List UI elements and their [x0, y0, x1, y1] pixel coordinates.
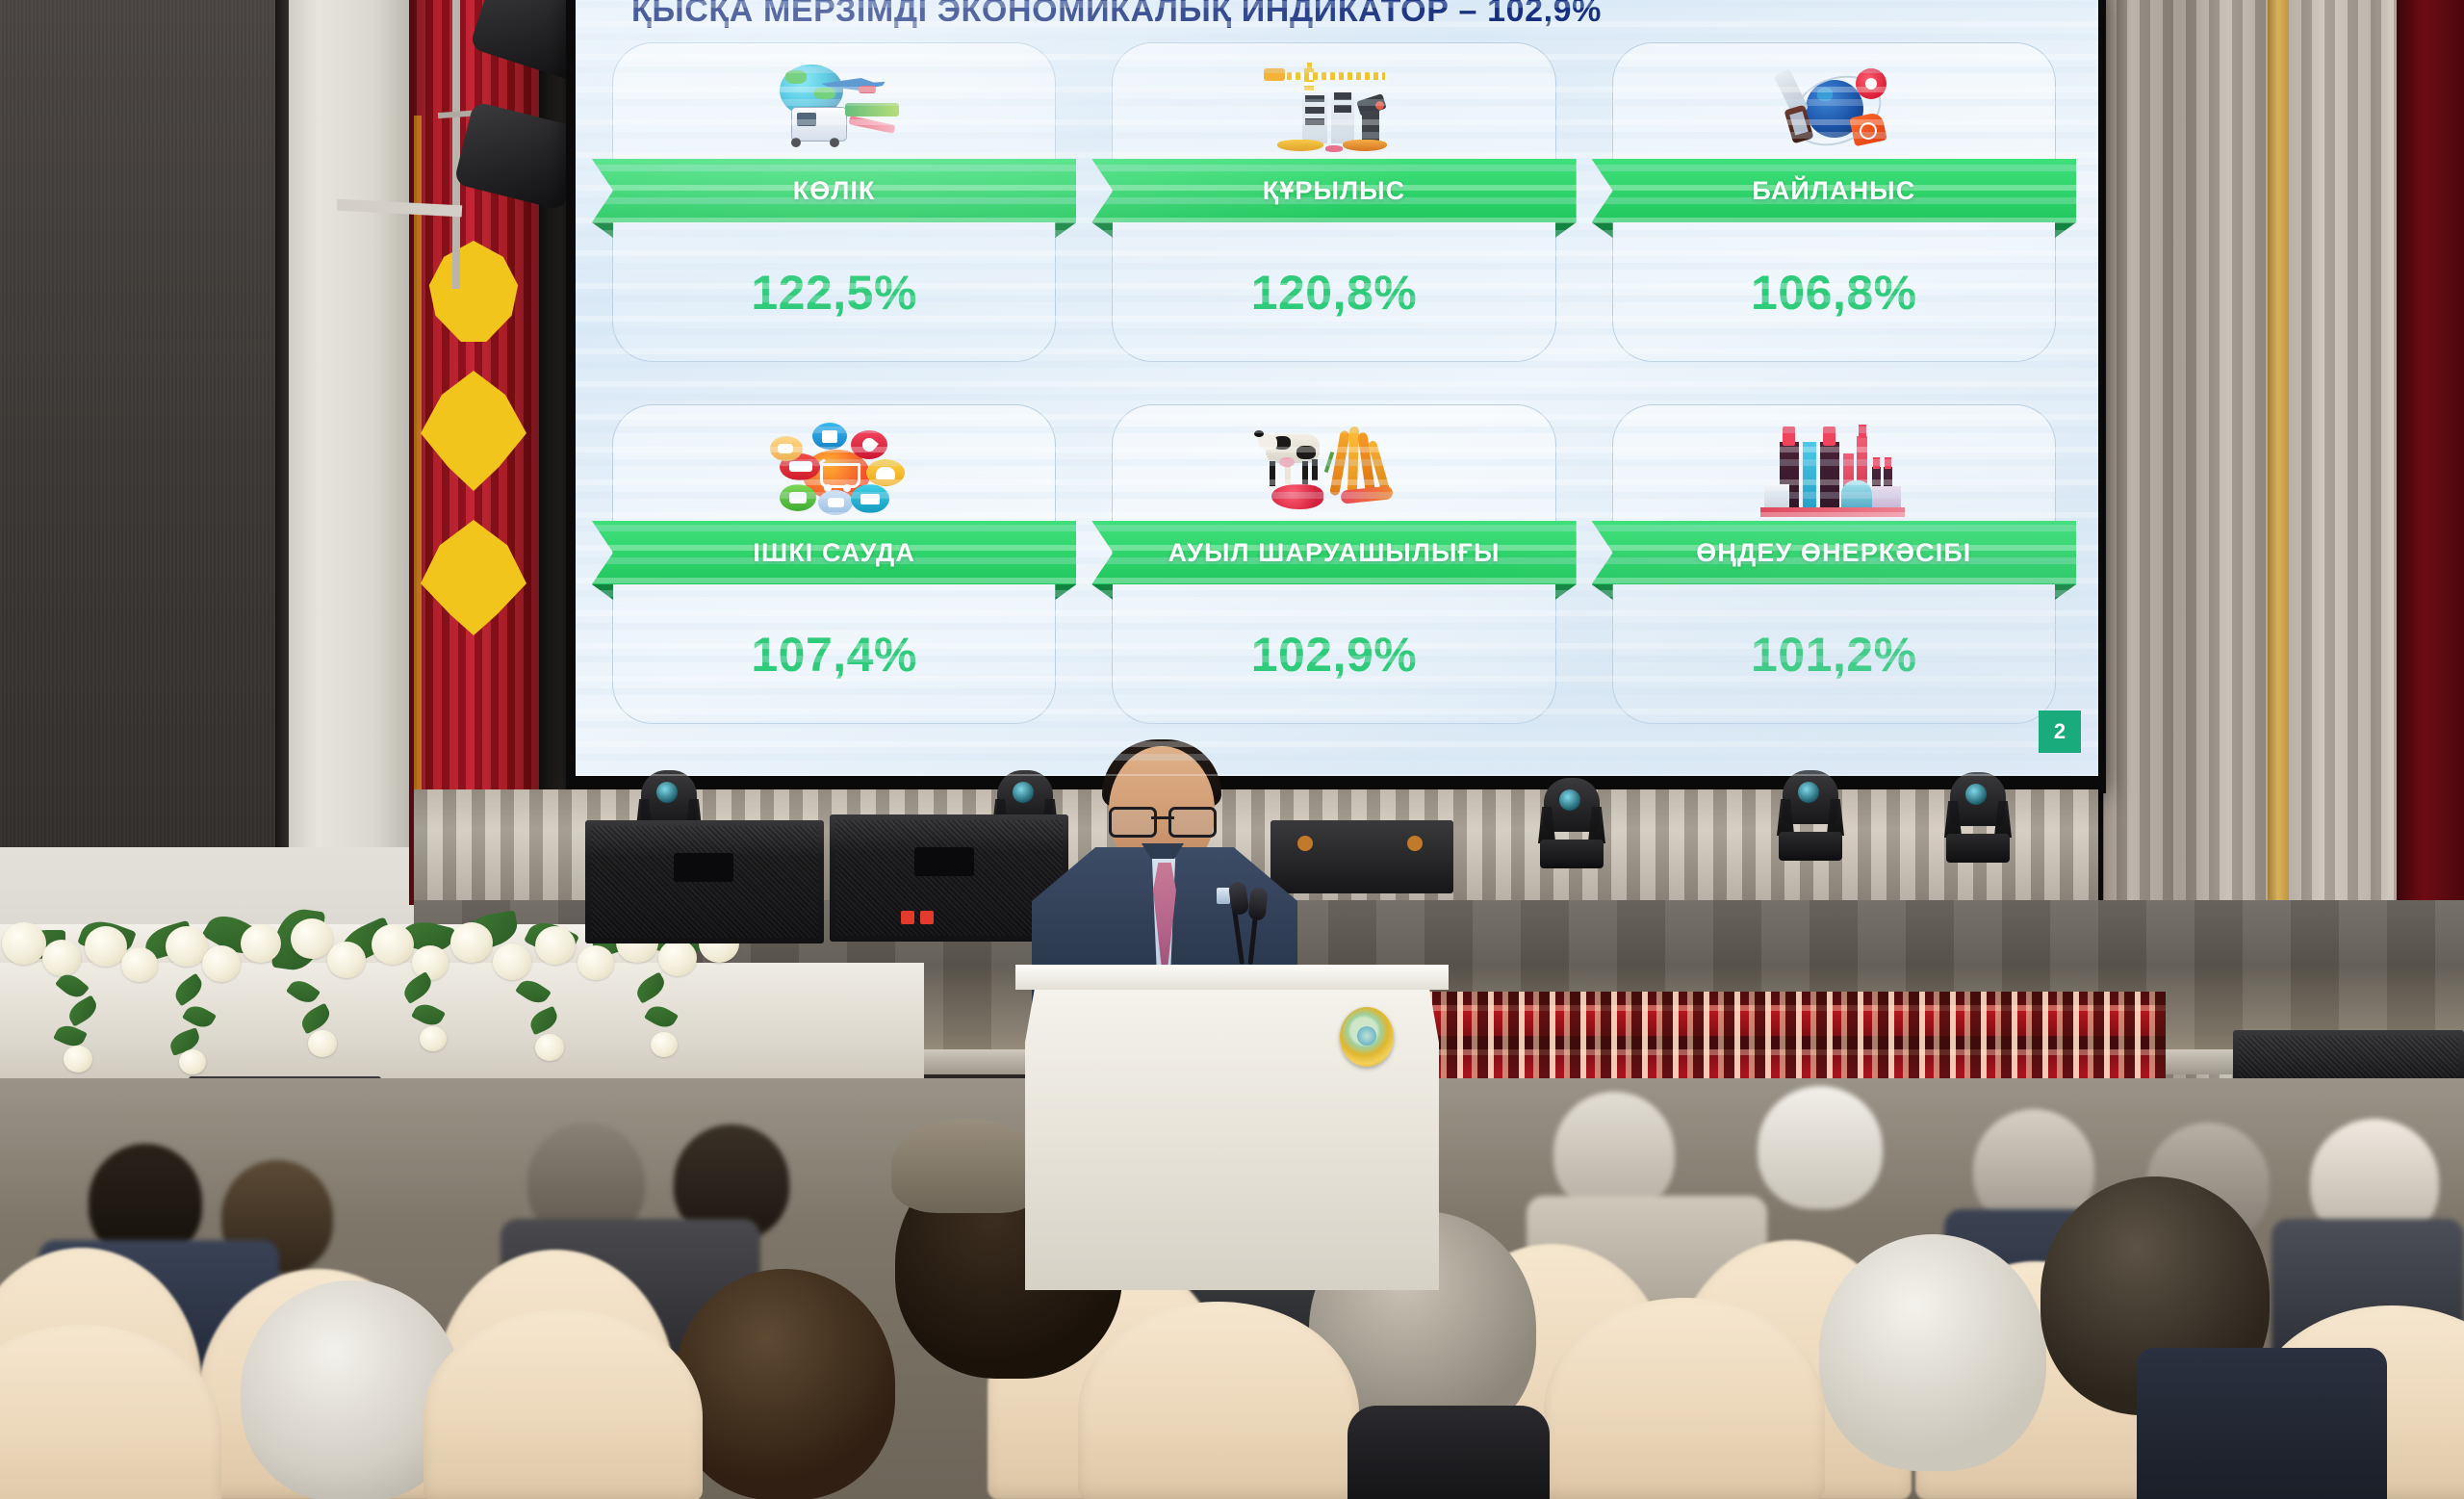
- card-value: 102,9%: [1113, 627, 1554, 683]
- slide-page-number: 2: [2039, 711, 2081, 753]
- amp-rack: [1270, 820, 1453, 893]
- amp-knob: [1297, 836, 1313, 851]
- slide-title: ҚЫСҚА МЕРЗІМДІ ЭКОНОМИКАЛЫҚ ИНДИКАТОР – …: [631, 0, 1602, 30]
- acoustic-wall-panel: [0, 0, 289, 847]
- speaker-connector: [920, 911, 934, 924]
- audience-head-hijab: [1819, 1234, 2046, 1471]
- ribbon-tail: [592, 222, 613, 238]
- ribbon-tail: [1091, 584, 1113, 600]
- curtain-ornament-strip: [414, 116, 422, 886]
- ribbon-tail: [2055, 222, 2076, 238]
- speaker-handle: [674, 853, 733, 882]
- card-label: ҚҰРЫЛЫС: [1263, 176, 1406, 206]
- indicator-card: БАЙЛАНЫС 106,8%: [1612, 42, 2056, 362]
- ribbon-tail: [1555, 222, 1577, 238]
- card-ribbon: КӨЛІК: [592, 159, 1076, 222]
- card-ribbon: ҚҰРЫЛЫС: [1091, 159, 1576, 222]
- construction-crane-icon: [1113, 57, 1554, 165]
- card-value: 101,2%: [1613, 627, 2055, 683]
- ribbon-tail: [1055, 584, 1076, 600]
- card-label: БАЙЛАНЫС: [1752, 176, 1915, 206]
- shopping-cart-icon: [613, 419, 1055, 527]
- moving-head-light: [1538, 778, 1605, 870]
- conference-hall-photo: ҚЫСҚА МЕРЗІМДІ ЭКОНОМИКАЛЫҚ ИНДИКАТОР – …: [0, 0, 2464, 1499]
- audience-head: [674, 1269, 895, 1499]
- communication-globe-icon: [1613, 57, 2055, 165]
- audience-shoulders: [1347, 1406, 1550, 1499]
- ribbon-tail: [1592, 584, 1613, 600]
- amp-knob: [1407, 836, 1423, 851]
- lighting-pole: [452, 0, 460, 289]
- card-value: 120,8%: [1113, 265, 1554, 321]
- card-ribbon: ӨҢДЕУ ӨНЕРКӘСІБІ: [1592, 521, 2076, 584]
- audience-head-hijab: [1758, 1086, 1883, 1209]
- card-value: 106,8%: [1613, 265, 2055, 321]
- indicator-card: ҚҰРЫЛЫС 120,8%: [1112, 42, 1555, 362]
- ribbon-tail: [1555, 584, 1577, 600]
- indicator-card: ІШКІ САУДА 107,4%: [612, 404, 1056, 724]
- led-presentation-screen: ҚЫСҚА МЕРЗІМДІ ЭКОНОМИКАЛЫҚ ИНДИКАТОР – …: [576, 0, 2098, 776]
- speaker-handle: [914, 847, 974, 876]
- card-ribbon: БАЙЛАНЫС: [1592, 159, 2076, 222]
- card-value: 107,4%: [613, 627, 1055, 683]
- moving-head-light: [1944, 772, 2012, 865]
- eyeglasses-icon: [1109, 807, 1217, 832]
- white-column: [289, 0, 409, 871]
- factory-icon: [1613, 419, 2055, 527]
- ribbon-tail: [1091, 222, 1113, 238]
- card-label: ІШКІ САУДА: [753, 538, 915, 568]
- card-ribbon: АУЫЛ ШАРУАШЫЛЫҒЫ: [1091, 521, 1576, 584]
- card-label: ӨҢДЕУ ӨНЕРКӘСІБІ: [1696, 538, 1971, 568]
- card-ribbon: ІШКІ САУДА: [592, 521, 1076, 584]
- indicator-card: ӨҢДЕУ ӨНЕРКӘСІБІ 101,2%: [1612, 404, 2056, 724]
- stage-monitor-speaker: [585, 820, 824, 943]
- skullcap: [891, 1119, 1045, 1213]
- slide-card-grid: КӨЛІК 122,5%: [612, 42, 2056, 724]
- transport-icon: [613, 57, 1055, 165]
- ribbon-tail: [1055, 222, 1076, 238]
- indicator-card: КӨЛІК 122,5%: [612, 42, 1056, 362]
- speaker-connector: [901, 911, 914, 924]
- agriculture-cow-wheat-icon: [1113, 419, 1554, 527]
- kazakhstan-coat-of-arms: [1340, 1007, 1394, 1067]
- card-value: 122,5%: [613, 265, 1055, 321]
- moving-head-light: [1777, 770, 1844, 863]
- indicator-card: АУЫЛ ШАРУАШЫЛЫҒЫ 102,9%: [1112, 404, 1555, 724]
- podium-top-surface: [1015, 965, 1449, 990]
- ribbon-tail: [2055, 584, 2076, 600]
- card-label: АУЫЛ ШАРУАШЫЛЫҒЫ: [1168, 538, 1501, 568]
- ribbon-tail: [1592, 222, 1613, 238]
- card-label: КӨЛІК: [793, 176, 876, 206]
- ribbon-tail: [592, 584, 613, 600]
- audience-shoulders: [2137, 1348, 2387, 1499]
